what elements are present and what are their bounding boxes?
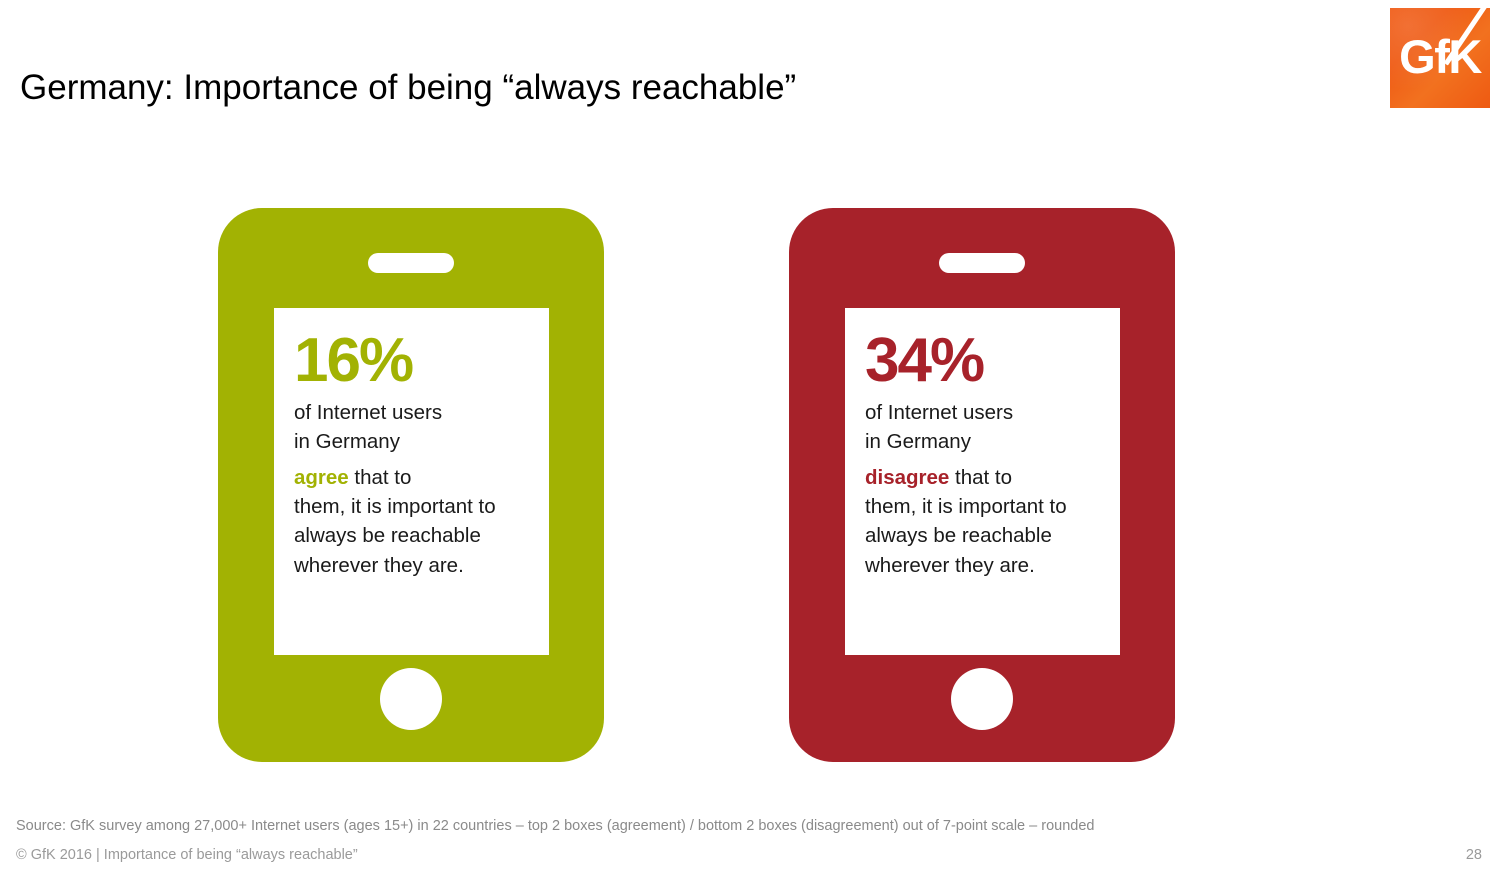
stat-description-agree: of Internet users in Germany agree that … [294, 398, 529, 580]
phone-home-button-icon [380, 668, 442, 730]
desc-line-2: in Germany [294, 430, 400, 453]
logo-text: GfK [1390, 8, 1490, 108]
desc-line-4: always be reachable [294, 524, 481, 547]
desc-line-5: wherever they are. [865, 554, 1035, 577]
desc-line-4: always be reachable [865, 524, 1052, 547]
desc-line-3: them, it is important to [865, 495, 1067, 518]
footer-copyright: © GfK 2016 | Importance of being “always… [16, 847, 358, 863]
slide-footer: © GfK 2016 | Importance of being “always… [0, 847, 1500, 874]
phone-card-disagree: 34% of Internet users in Germany disagre… [789, 208, 1175, 762]
phone-speaker-icon [939, 253, 1025, 273]
phone-screen-agree: 16% of Internet users in Germany agree t… [274, 308, 549, 655]
stat-description-disagree: of Internet users in Germany disagree th… [865, 398, 1100, 580]
stat-value-agree: 16% [294, 330, 529, 392]
desc-line-5: wherever they are. [294, 554, 464, 577]
desc-rest: that to [949, 466, 1012, 489]
footer-page-number: 28 [1466, 847, 1482, 863]
source-note: Source: GfK survey among 27,000+ Interne… [16, 818, 1094, 834]
desc-spacer [294, 456, 529, 463]
desc-line-1: of Internet users [865, 401, 1013, 424]
desc-line-2: in Germany [865, 430, 971, 453]
page-title: Germany: Importance of being “always rea… [20, 68, 796, 108]
emphasis-word-disagree: disagree [865, 466, 949, 489]
desc-line-3: them, it is important to [294, 495, 496, 518]
phone-speaker-icon [368, 253, 454, 273]
phone-screen-disagree: 34% of Internet users in Germany disagre… [845, 308, 1120, 655]
phone-card-agree: 16% of Internet users in Germany agree t… [218, 208, 604, 762]
desc-spacer [865, 456, 1100, 463]
desc-rest: that to [349, 466, 412, 489]
stat-value-disagree: 34% [865, 330, 1100, 392]
phone-home-button-icon [951, 668, 1013, 730]
desc-line-1: of Internet users [294, 401, 442, 424]
emphasis-word-agree: agree [294, 466, 349, 489]
gfk-logo: GfK [1390, 8, 1490, 108]
